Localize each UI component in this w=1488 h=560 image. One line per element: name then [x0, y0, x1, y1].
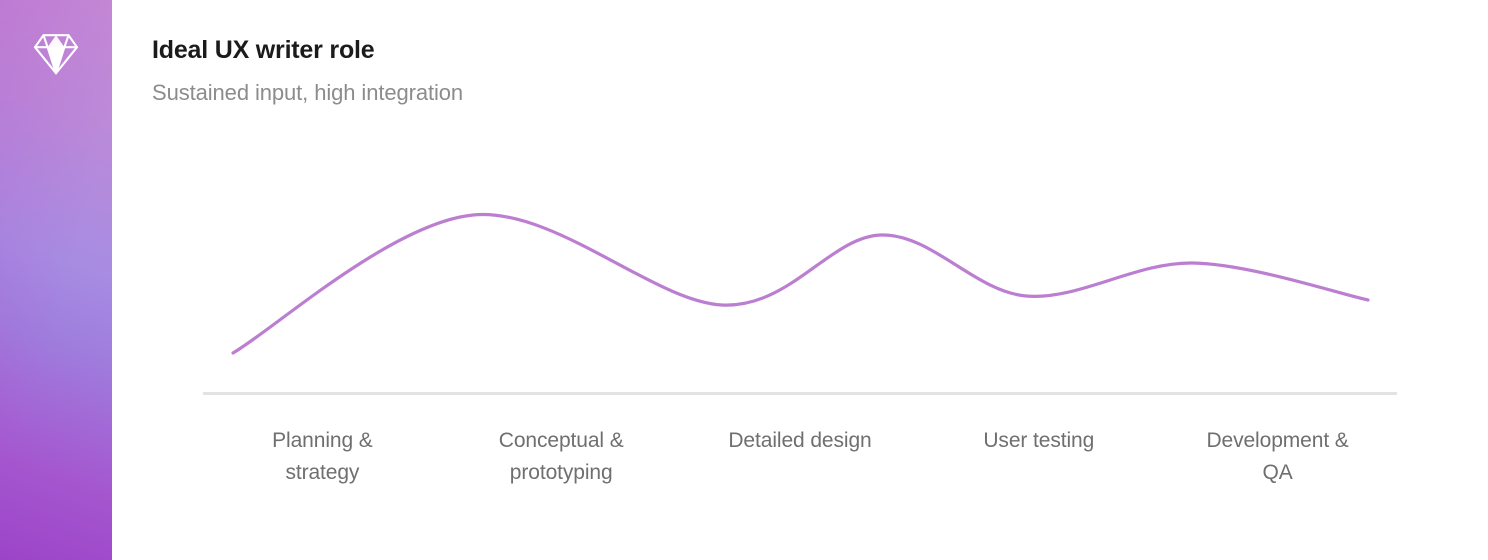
axis-label-line: Conceptual &	[499, 429, 624, 452]
axis-label-user-testing: User testing	[919, 425, 1158, 489]
diamond-gem-icon	[32, 30, 80, 78]
axis-label-line: QA	[1263, 461, 1293, 484]
involvement-curve	[233, 215, 1368, 353]
x-axis-labels: Planning & strategy Conceptual & prototy…	[203, 425, 1397, 489]
axis-label-line: Planning &	[272, 429, 373, 452]
involvement-line-chart: Planning & strategy Conceptual & prototy…	[112, 120, 1488, 560]
slide-canvas: Ideal UX writer role Sustained input, hi…	[0, 0, 1488, 560]
page-title: Ideal UX writer role	[152, 34, 1352, 66]
axis-label-line: prototyping	[510, 461, 613, 484]
x-axis-line	[203, 392, 1397, 395]
axis-label-line: strategy	[285, 461, 359, 484]
axis-label-line: Detailed design	[728, 429, 871, 452]
page-subtitle: Sustained input, high integration	[152, 78, 1352, 108]
axis-label-planning-strategy: Planning & strategy	[203, 425, 442, 489]
axis-label-detailed-design: Detailed design	[681, 425, 920, 489]
axis-label-line: Development &	[1206, 429, 1348, 452]
axis-label-line: User testing	[983, 429, 1094, 452]
axis-label-development-qa: Development & QA	[1158, 425, 1397, 489]
chart-curve-svg	[112, 120, 1488, 410]
heading-block: Ideal UX writer role Sustained input, hi…	[152, 34, 1352, 108]
axis-label-conceptual-prototyping: Conceptual & prototyping	[442, 425, 681, 489]
brand-rail	[0, 0, 112, 560]
content-area: Ideal UX writer role Sustained input, hi…	[112, 0, 1488, 560]
